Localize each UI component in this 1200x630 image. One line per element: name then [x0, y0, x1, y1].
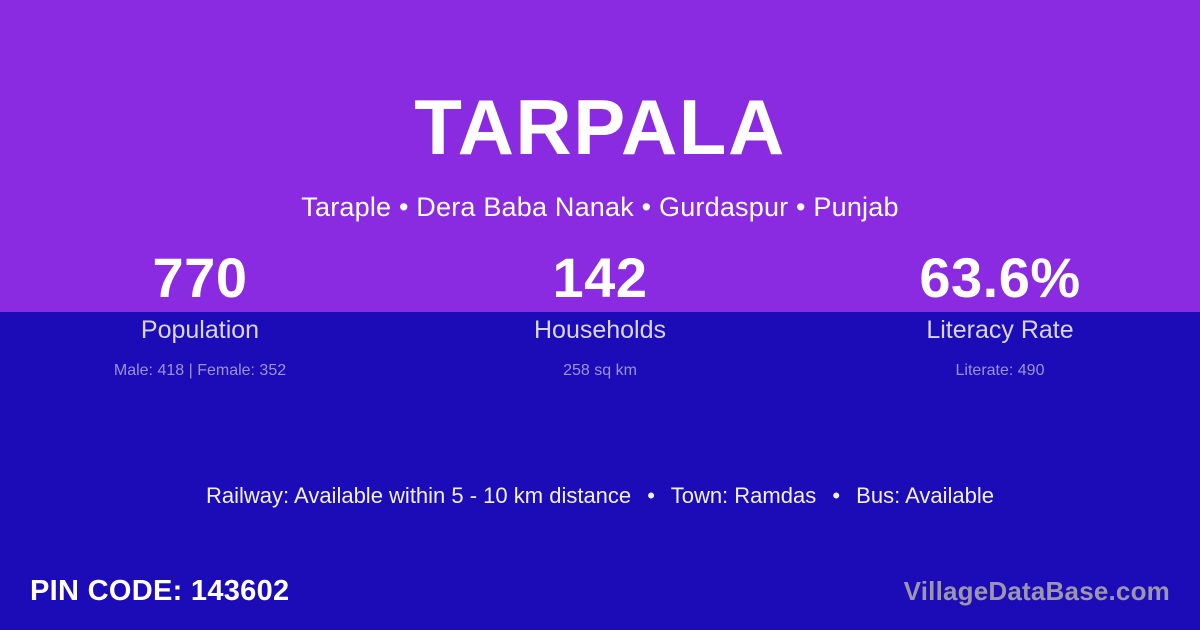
stat-sub-literacy: Literate: 490 — [800, 343, 1200, 379]
stats-row: 770 Population Male: 418 | Female: 352 1… — [0, 244, 1200, 379]
title-block: TARPALA Taraple • Dera Baba Nanak • Gurd… — [0, 0, 1200, 221]
stat-card-population: 770 Population Male: 418 | Female: 352 — [0, 244, 400, 379]
stat-value-literacy: 63.6% — [800, 244, 1200, 312]
stat-label-population: Population — [0, 312, 400, 343]
facility-railway: Railway: Available within 5 - 10 km dist… — [206, 483, 631, 508]
location-breadcrumb: Taraple • Dera Baba Nanak • Gurdaspur • … — [0, 166, 1200, 221]
stat-value-households: 142 — [400, 244, 800, 312]
stat-label-households: Households — [400, 312, 800, 343]
footer-bar: PIN CODE: 143602 VillageDataBase.com — [0, 552, 1200, 630]
facility-town: Town: Ramdas — [671, 483, 817, 508]
facility-separator-icon: • — [822, 485, 850, 507]
facility-bus: Bus: Available — [856, 483, 994, 508]
stat-value-population: 770 — [0, 244, 400, 312]
facilities-row: Railway: Available within 5 - 10 km dist… — [0, 485, 1200, 507]
stat-sub-population: Male: 418 | Female: 352 — [0, 343, 400, 379]
facility-separator-icon: • — [637, 485, 665, 507]
page-title: TARPALA — [0, 0, 1200, 166]
stat-card-literacy: 63.6% Literacy Rate Literate: 490 — [800, 244, 1200, 379]
brand-watermark: VillageDataBase.com — [904, 578, 1170, 604]
stat-card-households: 142 Households 258 sq km — [400, 244, 800, 379]
pin-code: PIN CODE: 143602 — [30, 577, 289, 606]
stat-sub-households: 258 sq km — [400, 343, 800, 379]
stat-label-literacy: Literacy Rate — [800, 312, 1200, 343]
